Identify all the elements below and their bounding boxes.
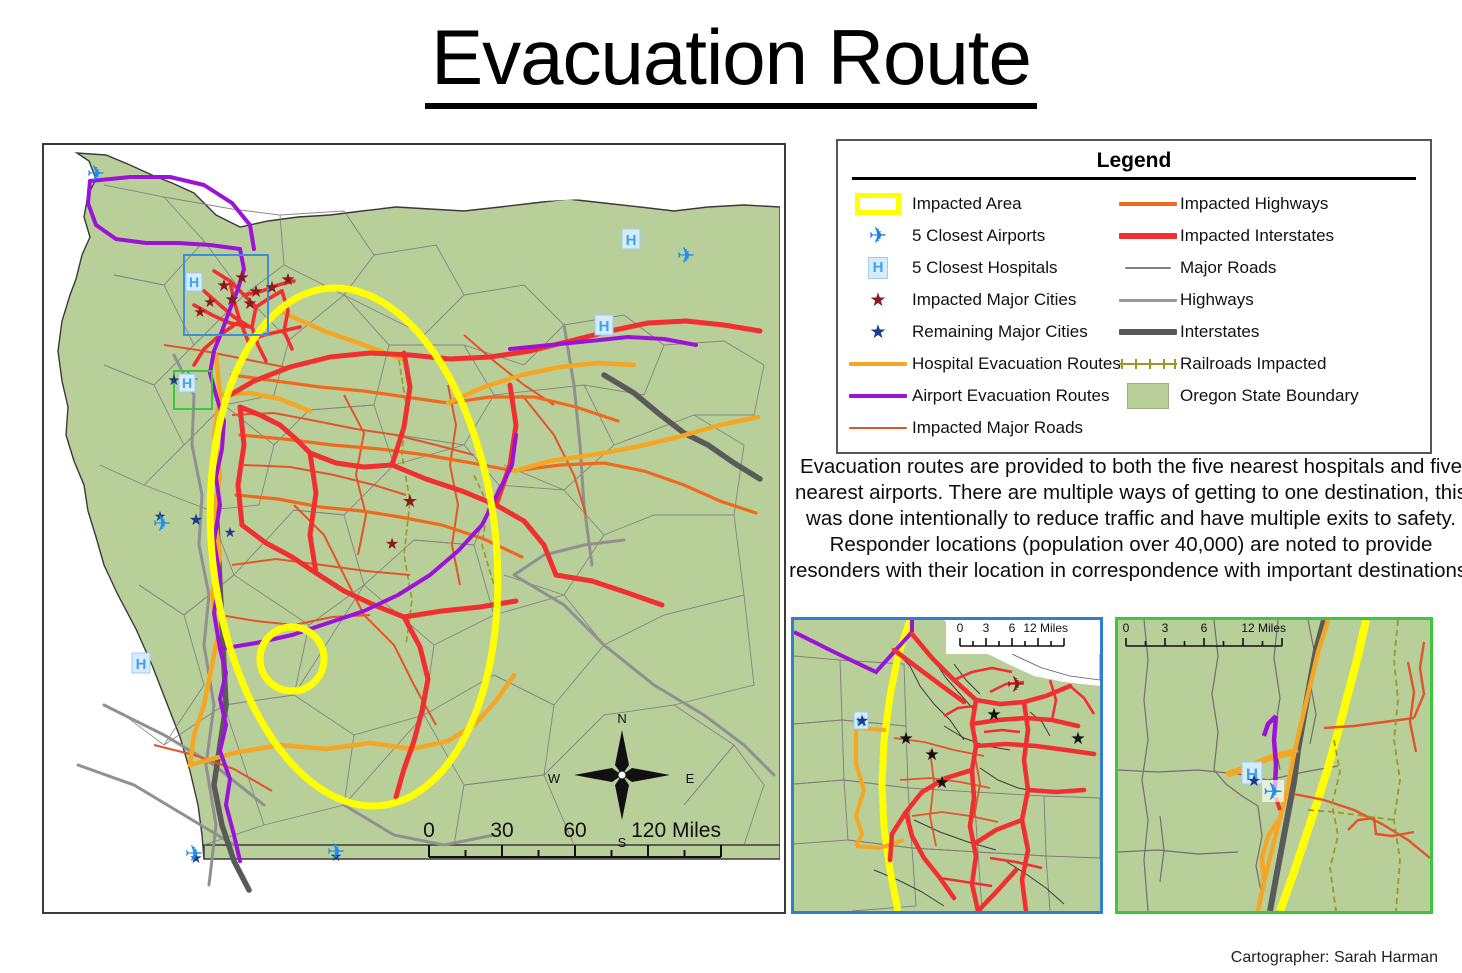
legend-divider bbox=[852, 177, 1416, 180]
impacted-airport-marker: ✈ bbox=[1007, 672, 1025, 697]
orange-line-swatch bbox=[844, 362, 912, 366]
scalebar-tick-0: 0 bbox=[1123, 621, 1130, 635]
svg-text:✈: ✈ bbox=[1263, 779, 1283, 806]
legend-column-right: Impacted Highways Impacted Interstates M… bbox=[1116, 188, 1416, 444]
svg-text:✈: ✈ bbox=[677, 243, 695, 268]
description-text: Evacuation routes are provided to both t… bbox=[786, 454, 1462, 584]
legend-label: Railroads Impacted bbox=[1180, 354, 1326, 374]
legend-item-closest-airports[interactable]: ✈ 5 Closest Airports bbox=[844, 220, 1116, 252]
svg-text:H: H bbox=[182, 375, 192, 391]
legend-item-closest-hospitals[interactable]: H 5 Closest Hospitals bbox=[844, 252, 1116, 284]
legend-label: Impacted Highways bbox=[1180, 194, 1328, 214]
remaining-major-city: ★ bbox=[1247, 773, 1261, 790]
svg-text:✈: ✈ bbox=[87, 161, 105, 186]
svg-text:H: H bbox=[189, 274, 199, 290]
legend-item-interstates[interactable]: Interstates bbox=[1116, 316, 1416, 348]
main-map[interactable]: ★ ★ ★ ★ ★ ★ ★ ★ ★ ★ ★ ★ ★ ★ ★ ★ ★ bbox=[42, 143, 786, 914]
legend-item-impacted-major-roads[interactable]: Impacted Major Roads bbox=[844, 412, 1116, 444]
legend-item-airport-routes[interactable]: Airport Evacuation Routes bbox=[844, 380, 1116, 412]
thin-gray-line-swatch bbox=[1116, 267, 1180, 269]
scalebar-end-label: 12 Miles bbox=[1241, 621, 1286, 635]
legend-item-remaining-cities[interactable]: ★ Remaining Major Cities bbox=[844, 316, 1116, 348]
svg-text:★: ★ bbox=[402, 491, 418, 511]
legend-item-impacted-cities[interactable]: ★ Impacted Major Cities bbox=[844, 284, 1116, 316]
svg-text:★: ★ bbox=[1070, 729, 1085, 748]
hospital-icon: H bbox=[844, 257, 912, 279]
blue-star-icon: ★ bbox=[844, 323, 912, 342]
main-scalebar-tick-0: 0 bbox=[423, 819, 435, 842]
compass-south-label: S bbox=[618, 835, 627, 850]
legend-label: Major Roads bbox=[1180, 258, 1276, 278]
page-title-text: Evacuation Route bbox=[425, 13, 1037, 109]
svg-text:H: H bbox=[599, 318, 610, 335]
legend-item-impacted-highways[interactable]: Impacted Highways bbox=[1116, 188, 1416, 220]
railroad-line-swatch bbox=[1116, 359, 1180, 369]
svg-text:✈: ✈ bbox=[185, 841, 203, 866]
state-fill-swatch bbox=[1116, 383, 1180, 409]
impacted-area-swatch bbox=[844, 193, 912, 215]
svg-text:★: ★ bbox=[224, 524, 237, 540]
legend-label: Highways bbox=[1180, 290, 1254, 310]
legend-item-impacted-area[interactable]: Impacted Area bbox=[844, 188, 1116, 220]
scalebar-tick-6: 6 bbox=[1201, 621, 1208, 635]
svg-text:★: ★ bbox=[898, 729, 913, 748]
eugene-inset[interactable]: H ★ ✈ 0 3 6 12 Miles bbox=[1115, 617, 1433, 914]
legend-item-impacted-interstates[interactable]: Impacted Interstates bbox=[1116, 220, 1416, 252]
compass-east-label: E bbox=[686, 771, 695, 786]
legend-label: 5 Closest Airports bbox=[912, 226, 1045, 246]
airport-evacuation-route bbox=[1274, 716, 1276, 788]
gray-line-swatch bbox=[1116, 299, 1180, 302]
legend-item-highways[interactable]: Highways bbox=[1116, 284, 1416, 316]
svg-text:★: ★ bbox=[234, 268, 249, 287]
legend-item-state-boundary[interactable]: Oregon State Boundary bbox=[1116, 380, 1416, 412]
svg-text:★: ★ bbox=[224, 290, 239, 309]
remaining-major-city: ★ bbox=[855, 713, 869, 730]
purple-line-swatch bbox=[844, 394, 912, 398]
scalebar-tick-0: 0 bbox=[957, 621, 964, 635]
cartographer-credit: Cartographer: Sarah Harman bbox=[1231, 949, 1438, 967]
svg-text:★: ★ bbox=[934, 773, 949, 792]
legend-label: Impacted Interstates bbox=[1180, 226, 1334, 246]
red-line-swatch bbox=[1116, 233, 1180, 239]
main-scalebar-end-label: 120 Miles bbox=[631, 819, 721, 842]
legend-panel: Legend Impacted Area ✈ 5 Closest Airport… bbox=[836, 139, 1432, 454]
legend-label: Remaining Major Cities bbox=[912, 322, 1088, 342]
svg-text:★: ★ bbox=[264, 278, 279, 297]
svg-text:★: ★ bbox=[242, 294, 257, 313]
scalebar-end-label: 12 Miles bbox=[1023, 621, 1068, 635]
scalebar-tick-3: 3 bbox=[1162, 621, 1169, 635]
legend-heading: Legend bbox=[838, 149, 1430, 173]
portland-inset[interactable]: ✈ ★ ★ ★ ★ ★ H ★ 0 3 6 bbox=[791, 617, 1103, 914]
legend-column-left: Impacted Area ✈ 5 Closest Airports H 5 C… bbox=[844, 188, 1116, 444]
red-star-icon: ★ bbox=[844, 291, 912, 310]
compass-north-label: N bbox=[617, 711, 626, 726]
svg-text:★: ★ bbox=[924, 745, 939, 764]
svg-text:★: ★ bbox=[280, 270, 295, 289]
svg-text:★: ★ bbox=[193, 304, 206, 321]
legend-item-railroads-impacted[interactable]: Railroads Impacted bbox=[1116, 348, 1416, 380]
dark-gray-thick-line-swatch bbox=[1116, 329, 1180, 335]
orange-red-line-swatch bbox=[1116, 202, 1180, 206]
legend-label: Oregon State Boundary bbox=[1180, 386, 1359, 406]
thin-orange-line-swatch bbox=[844, 427, 912, 429]
svg-text:★: ★ bbox=[385, 536, 399, 553]
legend-label: Impacted Major Roads bbox=[912, 418, 1083, 438]
scalebar-tick-6: 6 bbox=[1009, 621, 1016, 635]
legend-label: Airport Evacuation Routes bbox=[912, 386, 1110, 406]
page-title: Evacuation Route bbox=[0, 14, 1462, 100]
airport-icon: ✈ bbox=[844, 225, 912, 247]
main-scalebar-tick-30: 30 bbox=[490, 819, 513, 842]
svg-text:★: ★ bbox=[189, 512, 203, 529]
svg-text:✈: ✈ bbox=[327, 839, 345, 864]
svg-text:H: H bbox=[626, 232, 637, 249]
legend-item-major-roads[interactable]: Major Roads bbox=[1116, 252, 1416, 284]
svg-text:✈: ✈ bbox=[153, 511, 171, 536]
compass-west-label: W bbox=[548, 771, 561, 786]
svg-text:★: ★ bbox=[986, 705, 1001, 724]
legend-label: 5 Closest Hospitals bbox=[912, 258, 1058, 278]
legend-item-hospital-routes[interactable]: Hospital Evacuation Routes bbox=[844, 348, 1116, 380]
legend-label: Impacted Major Cities bbox=[912, 290, 1076, 310]
legend-label: Hospital Evacuation Routes bbox=[912, 354, 1121, 374]
main-scalebar-tick-60: 60 bbox=[563, 819, 586, 842]
legend-label: Interstates bbox=[1180, 322, 1259, 342]
airport-icon: ✈ bbox=[1262, 779, 1284, 806]
scalebar-tick-3: 3 bbox=[983, 621, 990, 635]
legend-label: Impacted Area bbox=[912, 194, 1022, 214]
svg-text:H: H bbox=[136, 656, 147, 673]
